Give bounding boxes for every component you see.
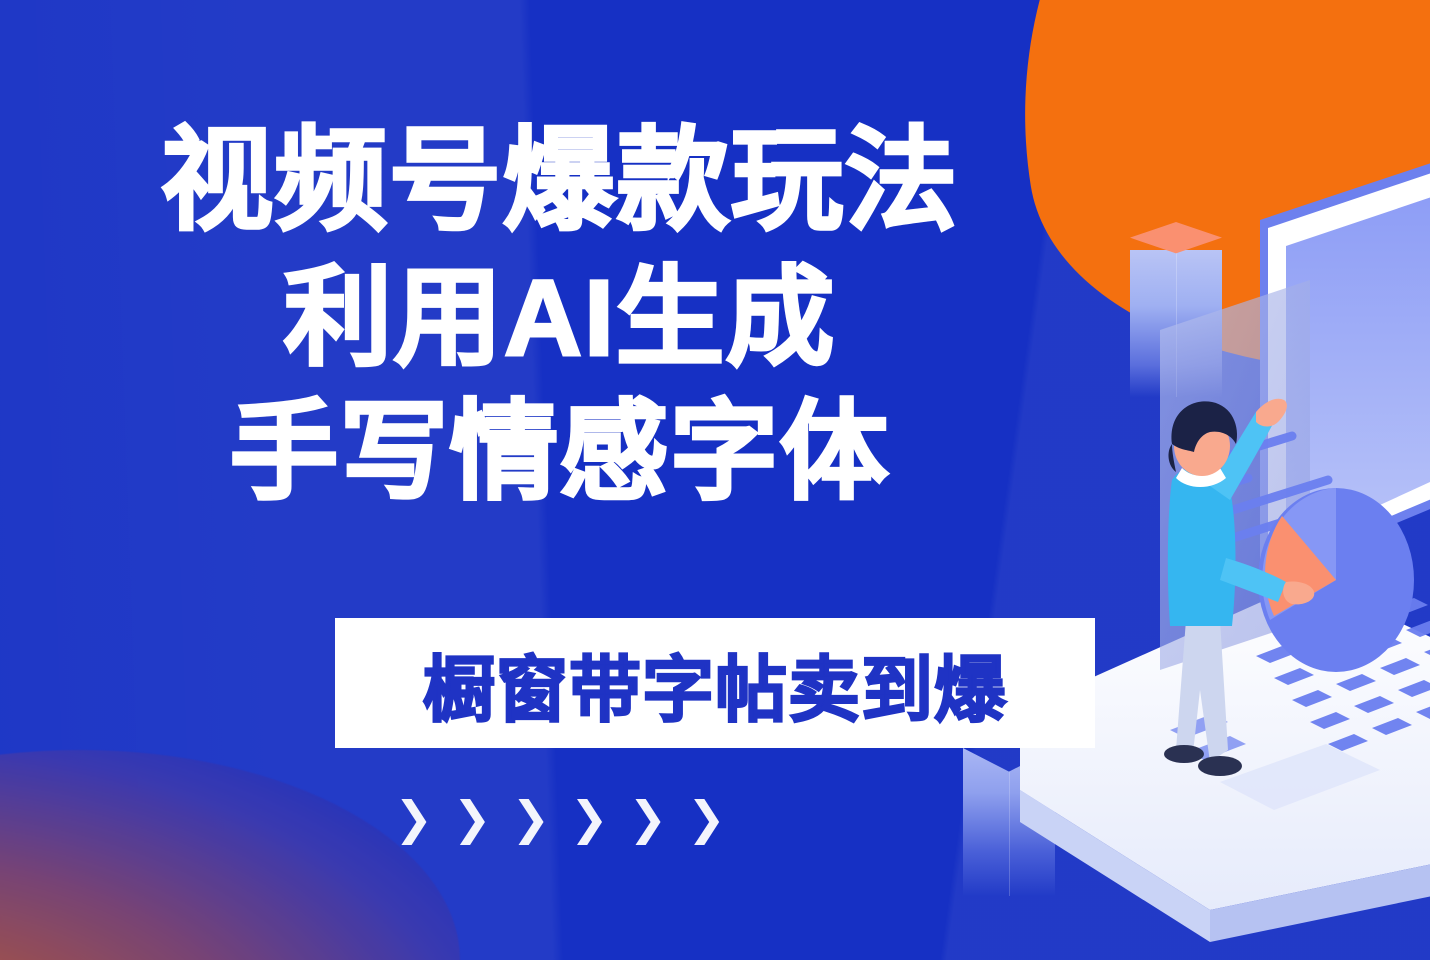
chevron-right-icon: ❯ xyxy=(511,795,550,841)
headline-line-1: 视频号爆款玩法 xyxy=(0,112,1120,251)
headline-line-3: 手写情感字体 xyxy=(0,385,1120,519)
chevron-right-icon: ❯ xyxy=(394,795,433,841)
chevron-right-icon: ❯ xyxy=(453,795,492,841)
chevron-right-icon: ❯ xyxy=(629,795,668,841)
headline-block: 视频号爆款玩法 利用AI生成 手写情感字体 xyxy=(0,112,1120,519)
headline-line-2: 利用AI生成 xyxy=(0,251,1120,385)
chevron-arrow-row: ❯ ❯ ❯ ❯ ❯ ❯ xyxy=(0,795,1120,841)
subtitle-banner-text: 橱窗带字帖卖到爆 xyxy=(423,631,1007,736)
chevron-right-icon: ❯ xyxy=(687,795,726,841)
poster-canvas: 视频号爆款玩法 利用AI生成 手写情感字体 橱窗带字帖卖到爆 ❯ ❯ ❯ ❯ ❯… xyxy=(0,0,1430,960)
subtitle-banner: 橱窗带字帖卖到爆 xyxy=(335,618,1095,748)
chevron-right-icon: ❯ xyxy=(570,795,609,841)
